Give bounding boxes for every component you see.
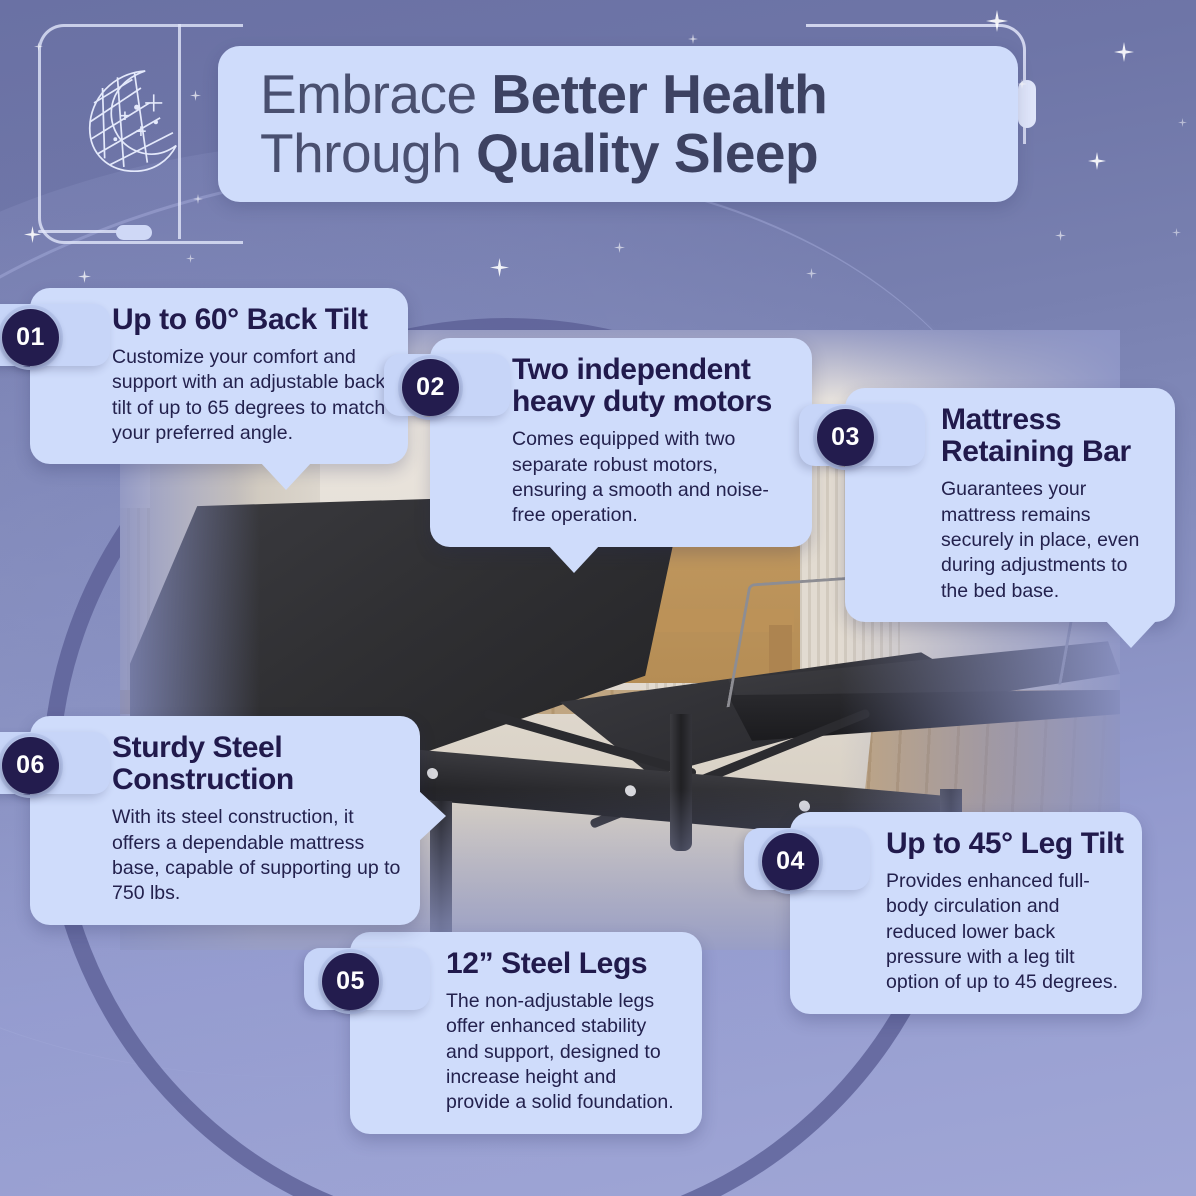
feature-body: Provides enhanced full-body circulation … xyxy=(886,869,1124,996)
sparkle-icon xyxy=(1055,230,1066,241)
card-tail xyxy=(418,790,446,842)
page-title: Embrace Better Health Through Quality Sl… xyxy=(260,65,827,184)
sparkle-icon xyxy=(688,34,698,44)
card-tail xyxy=(260,462,312,490)
feature-body: With its steel construction, it offers a… xyxy=(112,805,402,906)
feature-title: 12” Steel Legs xyxy=(446,948,684,980)
feature-card-02[interactable]: 02 Two independent heavy duty motors Com… xyxy=(430,338,812,547)
sparkle-icon xyxy=(1178,118,1187,127)
feature-number-badge: 03 xyxy=(817,409,874,466)
sparkle-icon xyxy=(986,10,1008,32)
card-tail xyxy=(548,545,600,573)
sparkle-icon xyxy=(1172,228,1181,237)
decorative-tail-line xyxy=(38,230,128,233)
sparkle-icon xyxy=(190,90,201,101)
sparkle-icon xyxy=(1114,42,1134,62)
feature-card-04[interactable]: 04 Up to 45° Leg Tilt Provides enhanced … xyxy=(790,812,1142,1014)
feature-body: Comes equipped with two separate robust … xyxy=(512,427,794,528)
feature-card-03[interactable]: 03 Mattress Retaining Bar Guarantees you… xyxy=(845,388,1175,622)
title-line2-light: Through xyxy=(260,122,476,184)
card-tail xyxy=(1105,620,1157,648)
feature-card-01[interactable]: 01 Up to 60° Back Tilt Customize your co… xyxy=(30,288,408,464)
sparkle-icon xyxy=(1088,152,1106,170)
feature-number-badge: 06 xyxy=(2,737,59,794)
feature-number-badge: 05 xyxy=(322,953,379,1010)
feature-title: Two independent heavy duty motors xyxy=(512,354,794,418)
crescent-moon-stars-icon xyxy=(62,56,190,184)
sparkle-icon xyxy=(24,226,41,243)
title-line1-bold: Better Health xyxy=(491,63,827,125)
feature-number-badge: 01 xyxy=(2,309,59,366)
feature-card-06[interactable]: 06 Sturdy Steel Construction With its st… xyxy=(30,716,420,925)
title-line1-light: Embrace xyxy=(260,63,491,125)
feature-body: The non-adjustable legs offer enhanced s… xyxy=(446,989,684,1116)
title-card: Embrace Better Health Through Quality Sl… xyxy=(218,46,1018,202)
feature-body: Customize your comfort and support with … xyxy=(112,345,390,446)
feature-body: Guarantees your mattress remains securel… xyxy=(941,477,1157,604)
sparkle-icon xyxy=(34,42,43,51)
feature-title: Sturdy Steel Construction xyxy=(112,732,402,796)
decorative-pill-left xyxy=(116,225,152,240)
decorative-pill-right xyxy=(1018,80,1036,128)
feature-number-badge: 02 xyxy=(402,359,459,416)
infographic-canvas: Embrace Better Health Through Quality Sl… xyxy=(0,0,1196,1196)
feature-number-badge: 04 xyxy=(762,833,819,890)
feature-title: Mattress Retaining Bar xyxy=(941,404,1157,468)
feature-title: Up to 45° Leg Tilt xyxy=(886,828,1124,860)
frame-bolt xyxy=(427,768,438,780)
feature-title: Up to 60° Back Tilt xyxy=(112,304,390,336)
feature-card-05[interactable]: 05 12” Steel Legs The non-adjustable leg… xyxy=(350,932,702,1134)
title-line2-bold: Quality Sleep xyxy=(476,122,818,184)
